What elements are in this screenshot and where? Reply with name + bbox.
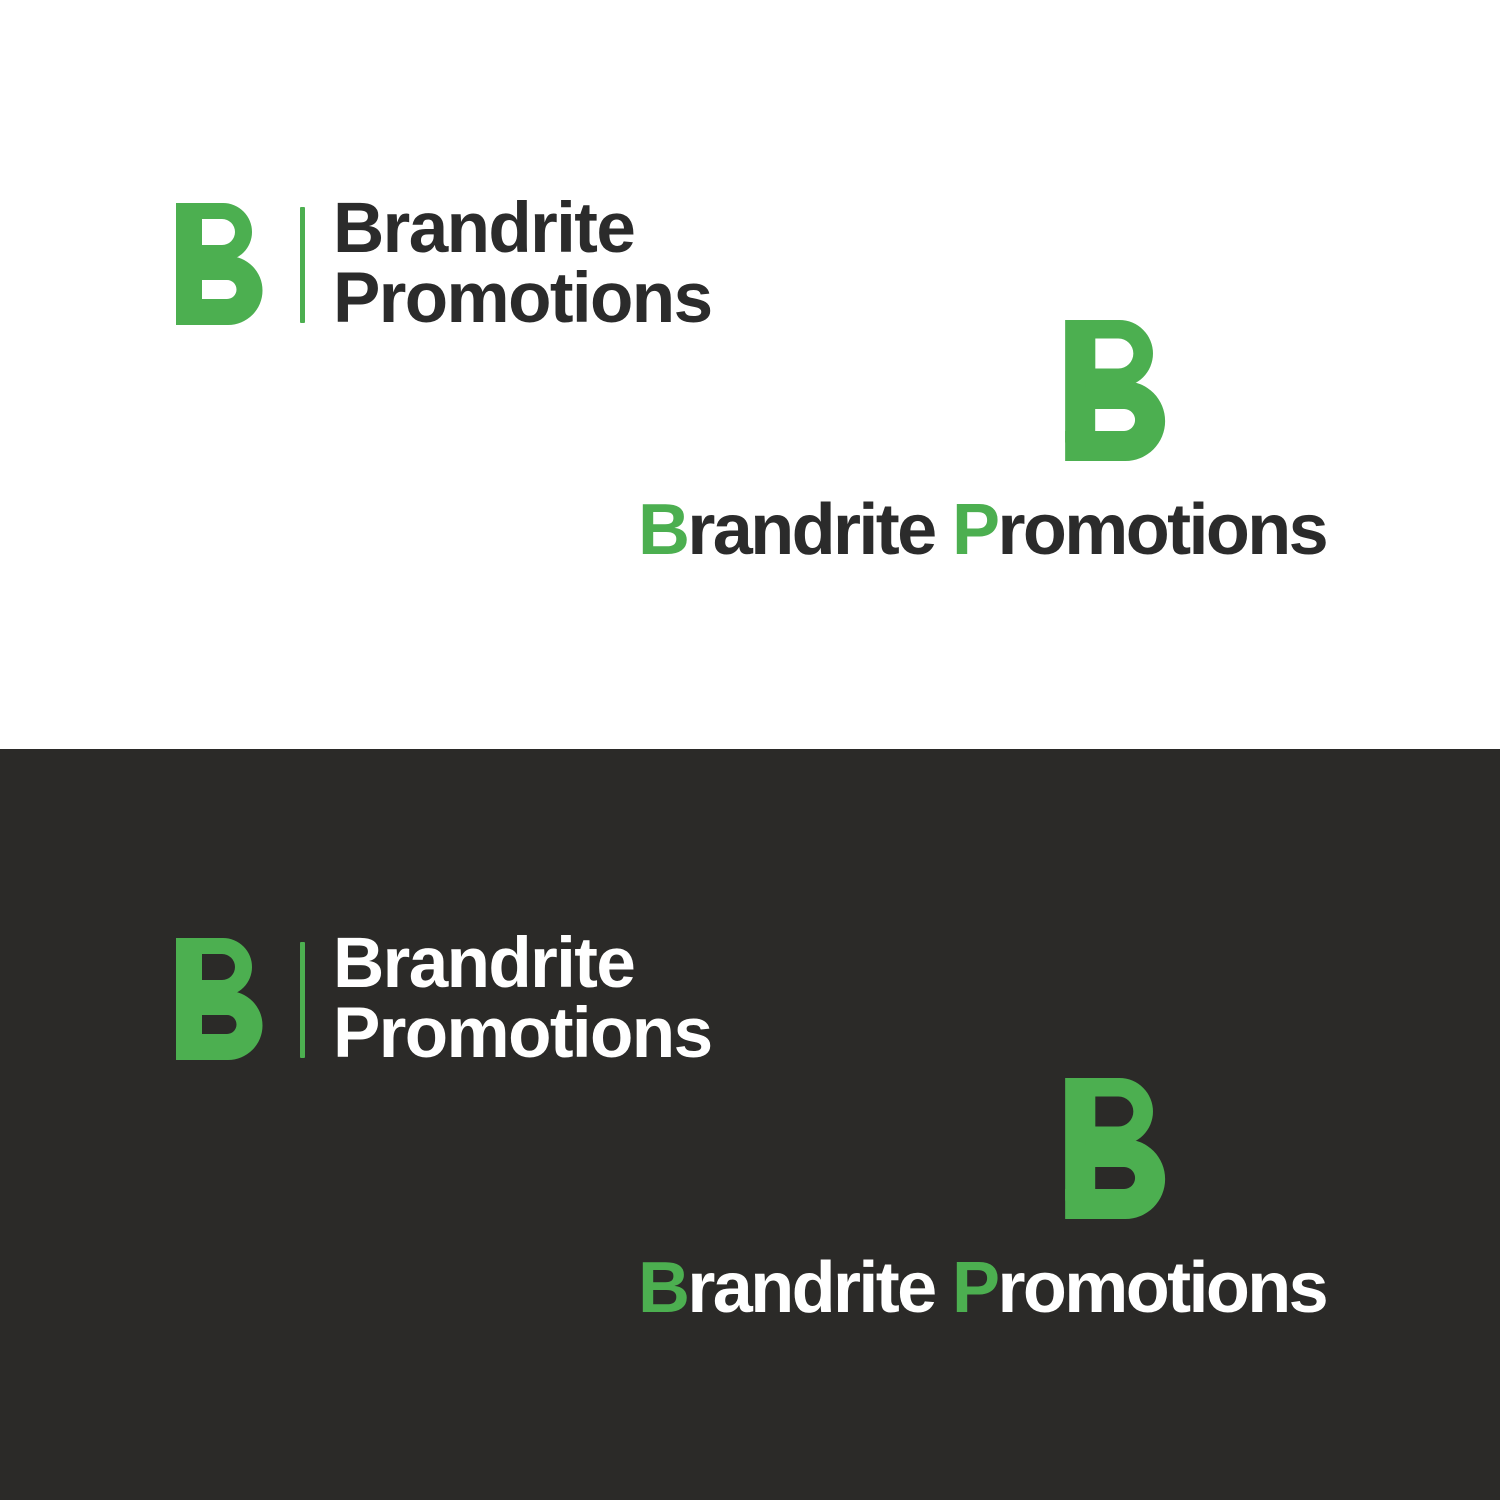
- brandrite-b-monogram-mark: [1065, 1078, 1167, 1219]
- wordmark-line-brandrite: Brandrite: [333, 194, 711, 264]
- wordmark-initial-p: P: [952, 490, 997, 570]
- wordmark-rest-randrite: randrite: [687, 1248, 934, 1328]
- brandrite-b-monogram-mark: [176, 938, 264, 1060]
- wordmark-space: [935, 1248, 952, 1328]
- logo-lockup-horizontal-light[interactable]: Brandrite Promotions: [176, 203, 711, 325]
- wordmark-space: [935, 490, 952, 570]
- logo-lockup-stacked-light[interactable]: Brandrite Promotions: [637, 320, 1327, 566]
- logo-presentation-canvas: Brandrite Promotions Brandrite Promotion…: [0, 0, 1500, 1500]
- wordmark-rest-randrite: randrite: [687, 490, 934, 570]
- wordmark-line-promotions: Promotions: [333, 999, 711, 1069]
- wordmark-rest-romotions: romotions: [997, 490, 1326, 570]
- wordmark-two-line: Brandrite Promotions: [333, 203, 711, 325]
- brandrite-b-monogram-mark: [1065, 320, 1167, 461]
- brandrite-b-monogram-mark: [176, 203, 264, 325]
- logo-divider-rule: [300, 207, 305, 323]
- wordmark-initial-p: P: [952, 1248, 997, 1328]
- wordmark-initial-b: B: [638, 490, 687, 570]
- wordmark-two-line: Brandrite Promotions: [333, 938, 711, 1060]
- logo-lockup-stacked-dark[interactable]: Brandrite Promotions: [637, 1078, 1327, 1324]
- wordmark-single-line: Brandrite Promotions: [638, 1252, 1326, 1324]
- wordmark-single-line: Brandrite Promotions: [638, 494, 1326, 566]
- logo-lockup-horizontal-dark[interactable]: Brandrite Promotions: [176, 938, 711, 1060]
- wordmark-rest-romotions: romotions: [997, 1248, 1326, 1328]
- logo-divider-rule: [300, 942, 305, 1058]
- wordmark-line-brandrite: Brandrite: [333, 929, 711, 999]
- wordmark-initial-b: B: [638, 1248, 687, 1328]
